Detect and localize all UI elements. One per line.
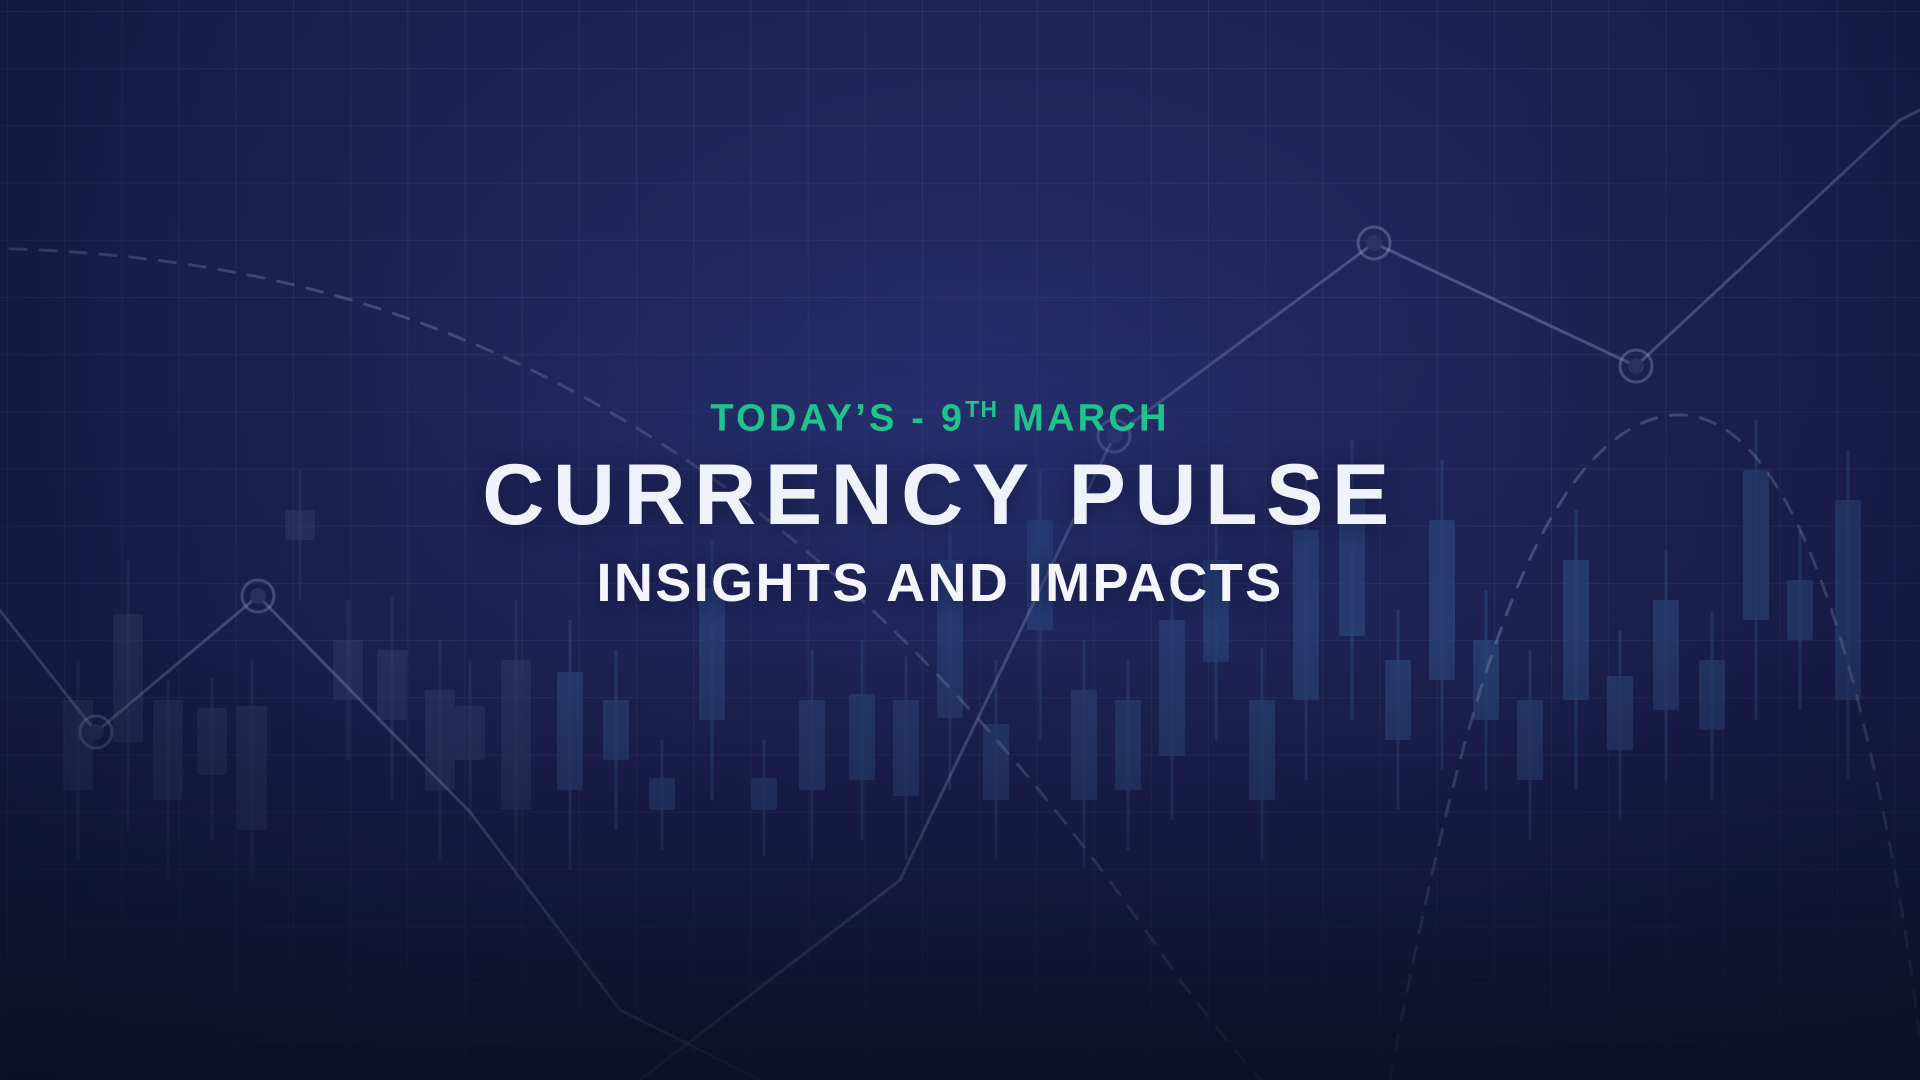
eyebrow-ordinal-suffix: TH bbox=[965, 396, 998, 422]
eyebrow-prefix: TODAY’S - 9 bbox=[710, 398, 965, 440]
currency-pulse-banner: TODAY’S - 9TH MARCH CURRENCY PULSE INSIG… bbox=[0, 0, 1920, 1080]
eyebrow-date: TODAY’S - 9TH MARCH bbox=[0, 398, 1880, 438]
headline-block: TODAY’S - 9TH MARCH CURRENCY PULSE INSIG… bbox=[0, 398, 1880, 610]
page-title: CURRENCY PULSE bbox=[0, 452, 1880, 538]
page-subtitle: INSIGHTS AND IMPACTS bbox=[0, 556, 1880, 610]
eyebrow-month: MARCH bbox=[998, 398, 1169, 440]
